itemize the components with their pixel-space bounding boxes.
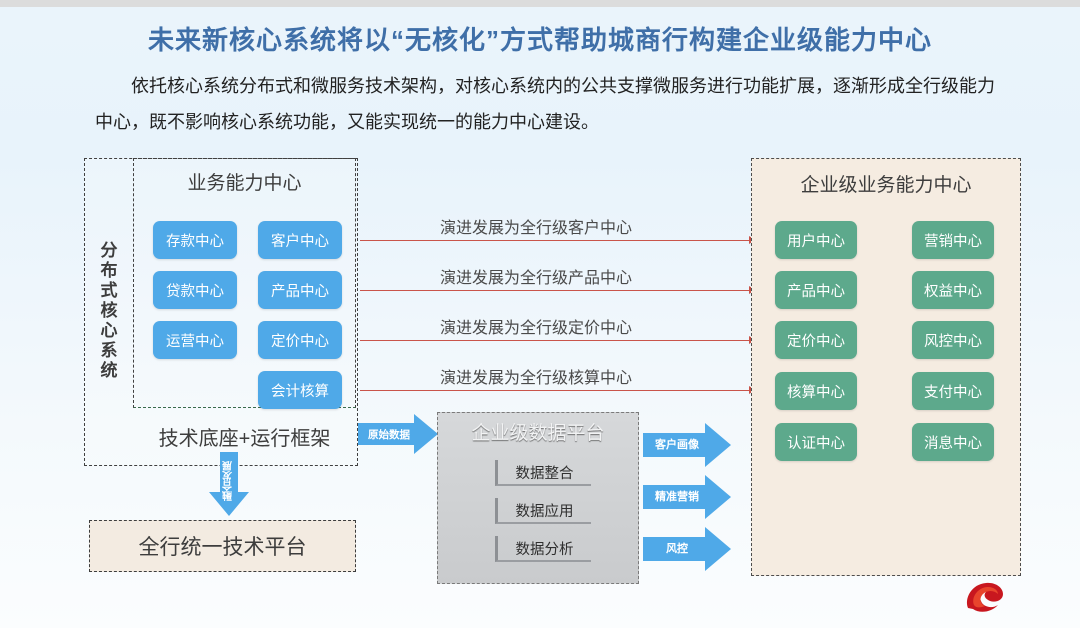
evolution-line-1 [360, 240, 750, 241]
evolution-line-4 [360, 390, 750, 391]
green-box-payment-center[interactable]: 支付中心 [912, 372, 994, 410]
evolution-line-3 [360, 340, 750, 341]
slide-canvas: 未来新核心系统将以“无核化”方式帮助城商行构建企业级能力中心 依托核心系统分布式… [0, 0, 1080, 628]
blue-box-pricing-center[interactable]: 定价中心 [258, 321, 342, 359]
data-platform-item-application[interactable]: 数据应用 [495, 498, 591, 524]
output-arrow-label-customer-profile: 客户画像 [647, 434, 707, 454]
dcits-logo: DCITS 神州信息 [962, 578, 1074, 620]
evolution-label-2: 演进发展为全行级产品中心 [440, 264, 632, 288]
top-strip [0, 0, 1080, 7]
green-box-authentication-center[interactable]: 认证中心 [775, 423, 857, 461]
integration-development-arrow-label: 融合发展 [207, 458, 251, 504]
green-box-accounting-center[interactable]: 核算中心 [775, 372, 857, 410]
blue-box-product-center[interactable]: 产品中心 [258, 271, 342, 309]
dcits-swirl-icon [962, 578, 1006, 618]
blue-box-operation-center[interactable]: 运营中心 [153, 321, 237, 359]
integration-development-arrow: 融合发展 [207, 452, 251, 518]
output-arrow-risk-control: 风控 [643, 525, 733, 573]
evolution-label-4: 演进发展为全行级核算中心 [440, 364, 632, 388]
evolution-label-1: 演进发展为全行级客户中心 [440, 214, 632, 238]
data-platform-item-analysis[interactable]: 数据分析 [495, 536, 591, 562]
evolution-line-2 [360, 290, 750, 291]
green-box-risk-control-center[interactable]: 风控中心 [912, 321, 994, 359]
evolution-label-3: 演进发展为全行级定价中心 [440, 314, 632, 338]
blue-box-deposit-center[interactable]: 存款中心 [153, 221, 237, 259]
green-box-marketing-center[interactable]: 营销中心 [912, 221, 994, 259]
page-subtitle: 依托核心系统分布式和微服务技术架构，对核心系统内的公共支撑微服务进行功能扩展，逐… [95, 68, 995, 140]
green-box-product-center[interactable]: 产品中心 [775, 271, 857, 309]
business-capability-center-title: 业务能力中心 [133, 168, 356, 195]
unified-tech-platform-box[interactable]: 全行统一技术平台 [89, 520, 356, 572]
raw-data-arrow-label: 原始数据 [360, 424, 418, 444]
distributed-core-system-label: 分布式核心系统 [84, 200, 130, 422]
green-box-rights-center[interactable]: 权益中心 [912, 271, 994, 309]
green-box-message-center[interactable]: 消息中心 [912, 423, 994, 461]
enterprise-data-platform-title: 企业级数据平台 [437, 418, 639, 445]
output-arrow-label-risk-control: 风控 [647, 538, 707, 558]
raw-data-arrow: 原始数据 [358, 412, 440, 456]
data-platform-item-integration[interactable]: 数据整合 [495, 460, 591, 486]
page-title: 未来新核心系统将以“无核化”方式帮助城商行构建企业级能力中心 [0, 20, 1080, 57]
blue-box-customer-center[interactable]: 客户中心 [258, 221, 342, 259]
enterprise-capability-center-title: 企业级业务能力中心 [751, 170, 1021, 197]
blue-box-accounting[interactable]: 会计核算 [258, 371, 342, 409]
output-arrow-customer-profile: 客户画像 [643, 421, 733, 469]
green-box-user-center[interactable]: 用户中心 [775, 221, 857, 259]
output-arrow-precision-marketing: 精准营销 [643, 473, 733, 521]
blue-box-loan-center[interactable]: 贷款中心 [153, 271, 237, 309]
output-arrow-label-precision-marketing: 精准营销 [647, 486, 707, 506]
green-box-pricing-center[interactable]: 定价中心 [775, 321, 857, 359]
